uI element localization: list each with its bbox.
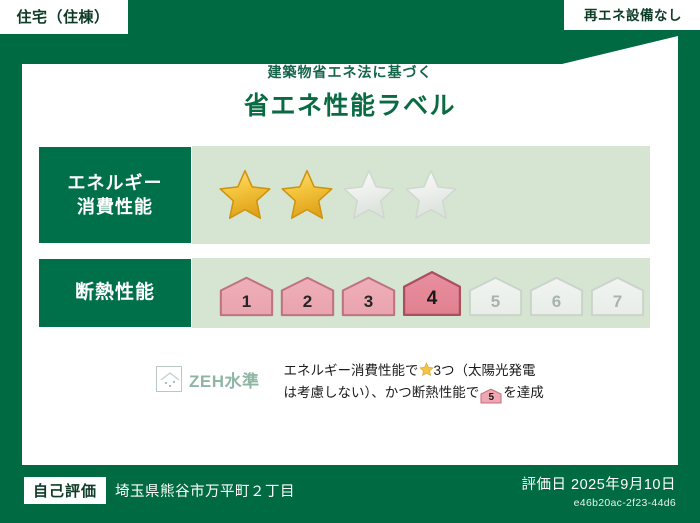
star-filled-icon	[280, 168, 334, 222]
zeh-desc-part3: を達成	[503, 385, 544, 400]
label-heading: 建築物省エネ法に基づく 省エネ性能ラベル	[0, 62, 700, 122]
footer-right-group: 評価日 2025年9月10日 e46b20ac-2f23-44d6	[522, 473, 676, 509]
insulation-level-badge: 6	[528, 275, 585, 317]
insulation-level-number: 7	[613, 292, 622, 317]
insulation-level-number: 2	[303, 292, 312, 317]
energy-label-line2: 消費性能	[77, 195, 153, 219]
star-empty-icon	[404, 168, 458, 222]
energy-performance-label: 住宅（住棟） 再エネ設備なし 建築物省エネ法に基づく 省エネ性能ラベル エネルギ…	[0, 0, 700, 523]
inline-house-badge: 5	[480, 388, 502, 404]
energy-performance-row: エネルギー 消費性能	[38, 146, 650, 244]
insulation-performance-rating: 1234567	[192, 258, 650, 328]
evaluation-id: e46b20ac-2f23-44d6	[522, 497, 676, 509]
renewable-energy-tag-label: 再エネ設備なし	[584, 4, 682, 24]
insulation-level-badge: 7	[589, 275, 646, 317]
insulation-performance-label-box: 断熱性能	[38, 258, 192, 328]
energy-performance-rating	[192, 146, 650, 244]
label-title: 省エネ性能ラベル	[0, 86, 700, 122]
insulation-level-badge: 5	[467, 275, 524, 317]
building-type-tag-label: 住宅（住棟）	[16, 6, 109, 27]
insulation-level-number: 6	[552, 292, 561, 317]
star-empty-icon	[342, 168, 396, 222]
label-footer: 自己評価 埼玉県熊谷市万平町２丁目 評価日 2025年9月10日 e46b20a…	[0, 465, 700, 523]
zeh-desc-part1: エネルギー消費性能で	[284, 363, 419, 378]
zeh-mark: ZEH水準	[156, 366, 260, 392]
self-evaluation-badge: 自己評価	[24, 477, 106, 504]
label-subtitle: 建築物省エネ法に基づく	[0, 62, 700, 82]
inline-star-icon	[419, 362, 434, 377]
zeh-desc-part2: は考慮しない）、かつ断熱性能で	[284, 385, 480, 400]
property-address: 埼玉県熊谷市万平町２丁目	[115, 480, 295, 501]
insulation-level-number: 4	[427, 288, 438, 317]
insulation-level-badge: 2	[279, 275, 336, 317]
insulation-level-number: 1	[242, 292, 251, 317]
insulation-level-badge: 4	[401, 269, 463, 317]
energy-performance-label-box: エネルギー 消費性能	[38, 146, 192, 244]
insulation-level-scale: 1234567	[218, 269, 646, 317]
evaluation-date: 評価日 2025年9月10日	[522, 473, 676, 494]
insulation-performance-row: 断熱性能 1234567	[38, 258, 650, 328]
insulation-level-badge: 1	[218, 275, 275, 317]
insulation-level-number: 3	[364, 292, 373, 317]
energy-label-line1: エネルギー	[68, 171, 163, 195]
zeh-standard-note: ZEH水準 エネルギー消費性能で 3つ（太陽光発電 は考慮しない）、かつ断熱性能…	[38, 358, 662, 405]
insulation-label: 断熱性能	[75, 280, 155, 306]
insulation-level-badge: 3	[340, 275, 397, 317]
star-rating	[218, 168, 458, 222]
zeh-desc-star-count: 3つ（太陽光発電	[434, 363, 536, 378]
insulation-level-number: 5	[491, 292, 500, 317]
footer-left-group: 自己評価 埼玉県熊谷市万平町２丁目	[24, 477, 295, 504]
zeh-house-icon	[156, 366, 182, 392]
zeh-mark-label: ZEH水準	[189, 367, 260, 392]
renewable-energy-tag: 再エネ設備なし	[562, 0, 700, 32]
star-filled-icon	[218, 168, 272, 222]
building-type-tag: 住宅（住棟）	[0, 0, 130, 36]
inline-house-badge-number: 5	[480, 388, 502, 407]
zeh-description: エネルギー消費性能で 3つ（太陽光発電 は考慮しない）、かつ断熱性能で 5を達成	[284, 360, 544, 405]
